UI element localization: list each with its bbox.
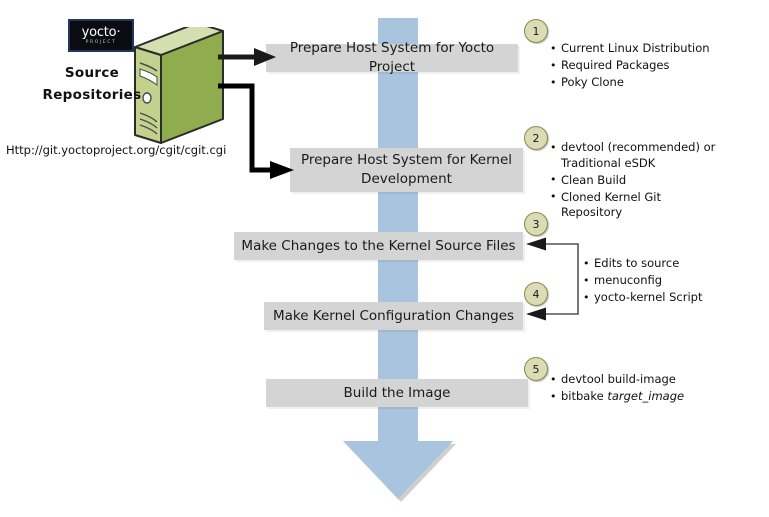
step-box-4[interactable]: Make Kernel Configuration Changes [264,302,523,330]
yocto-logo-subtext: PROJECT [86,41,117,46]
step-box-3-label: Make Changes to the Kernel Source Files [241,237,515,256]
list-item: Poky Clone [561,75,764,91]
source-label-line-2: Repositories [34,84,150,106]
list-item: Edits to source [594,256,762,272]
step-number-3-label: 3 [533,218,540,231]
list-item: Current Linux Distribution [561,41,764,57]
step-number-4: 4 [524,282,548,306]
step-box-3[interactable]: Make Changes to the Kernel Source Files [234,232,523,260]
list-item: Cloned Kernel Git Repository [561,190,724,221]
step-box-2-label: Prepare Host System for Kernel Developme… [290,151,523,189]
list-item: Required Packages [561,58,764,74]
bitbake-target-arg: target_image [607,389,684,403]
source-label-line-1: Source [34,62,150,84]
step-box-1[interactable]: Prepare Host System for Yocto Project [266,44,518,72]
bitbake-command: bitbake [561,389,607,403]
source-repository-url: Http://git.yoctoproject.org/cgit/cgit.cg… [6,143,226,157]
yocto-logo-wordmark: yocto· [82,26,121,39]
step-number-5: 5 [524,357,548,381]
yocto-logo-dot: · [116,25,120,40]
connector-server-to-step1 [218,44,278,70]
step-box-2[interactable]: Prepare Host System for Kernel Developme… [290,148,523,192]
yocto-project-logo: yocto· PROJECT [68,19,134,52]
list-item: devtool (recommended) or Traditional eSD… [561,140,724,171]
step-box-5[interactable]: Build the Image [266,379,528,407]
list-item: menuconfig [594,273,762,289]
step-number-1-label: 1 [533,25,540,38]
step-number-2: 2 [524,126,548,150]
step-box-1-label: Prepare Host System for Yocto Project [266,39,518,77]
connector-server-to-step2 [218,78,298,183]
step-box-4-label: Make Kernel Configuration Changes [273,307,514,326]
step-1-bullets: Current Linux Distribution Required Pack… [549,41,764,92]
list-item: devtool build-image [561,372,749,388]
step-number-2-label: 2 [533,132,540,145]
flow-arrow-head-icon [343,441,453,499]
step-number-1: 1 [524,19,548,43]
list-item: Clean Build [561,173,724,189]
step-number-5-label: 5 [533,363,540,376]
diagram-canvas: yocto· PROJECT Source Repositories Http:… [0,0,769,517]
source-repositories-label: Source Repositories [34,62,150,106]
step-box-5-label: Build the Image [344,384,451,403]
list-item: bitbake target_image [561,389,749,405]
yocto-logo-text: yocto [82,25,117,40]
step-3-4-shared-bullets: Edits to source menuconfig yocto-kernel … [582,256,762,307]
step-2-bullets: devtool (recommended) or Traditional eSD… [549,140,724,222]
step-number-3: 3 [524,212,548,236]
step-5-bullets: devtool build-image bitbake target_image [549,372,749,406]
step-number-4-label: 4 [533,288,540,301]
list-item: yocto-kernel Script [594,290,762,306]
